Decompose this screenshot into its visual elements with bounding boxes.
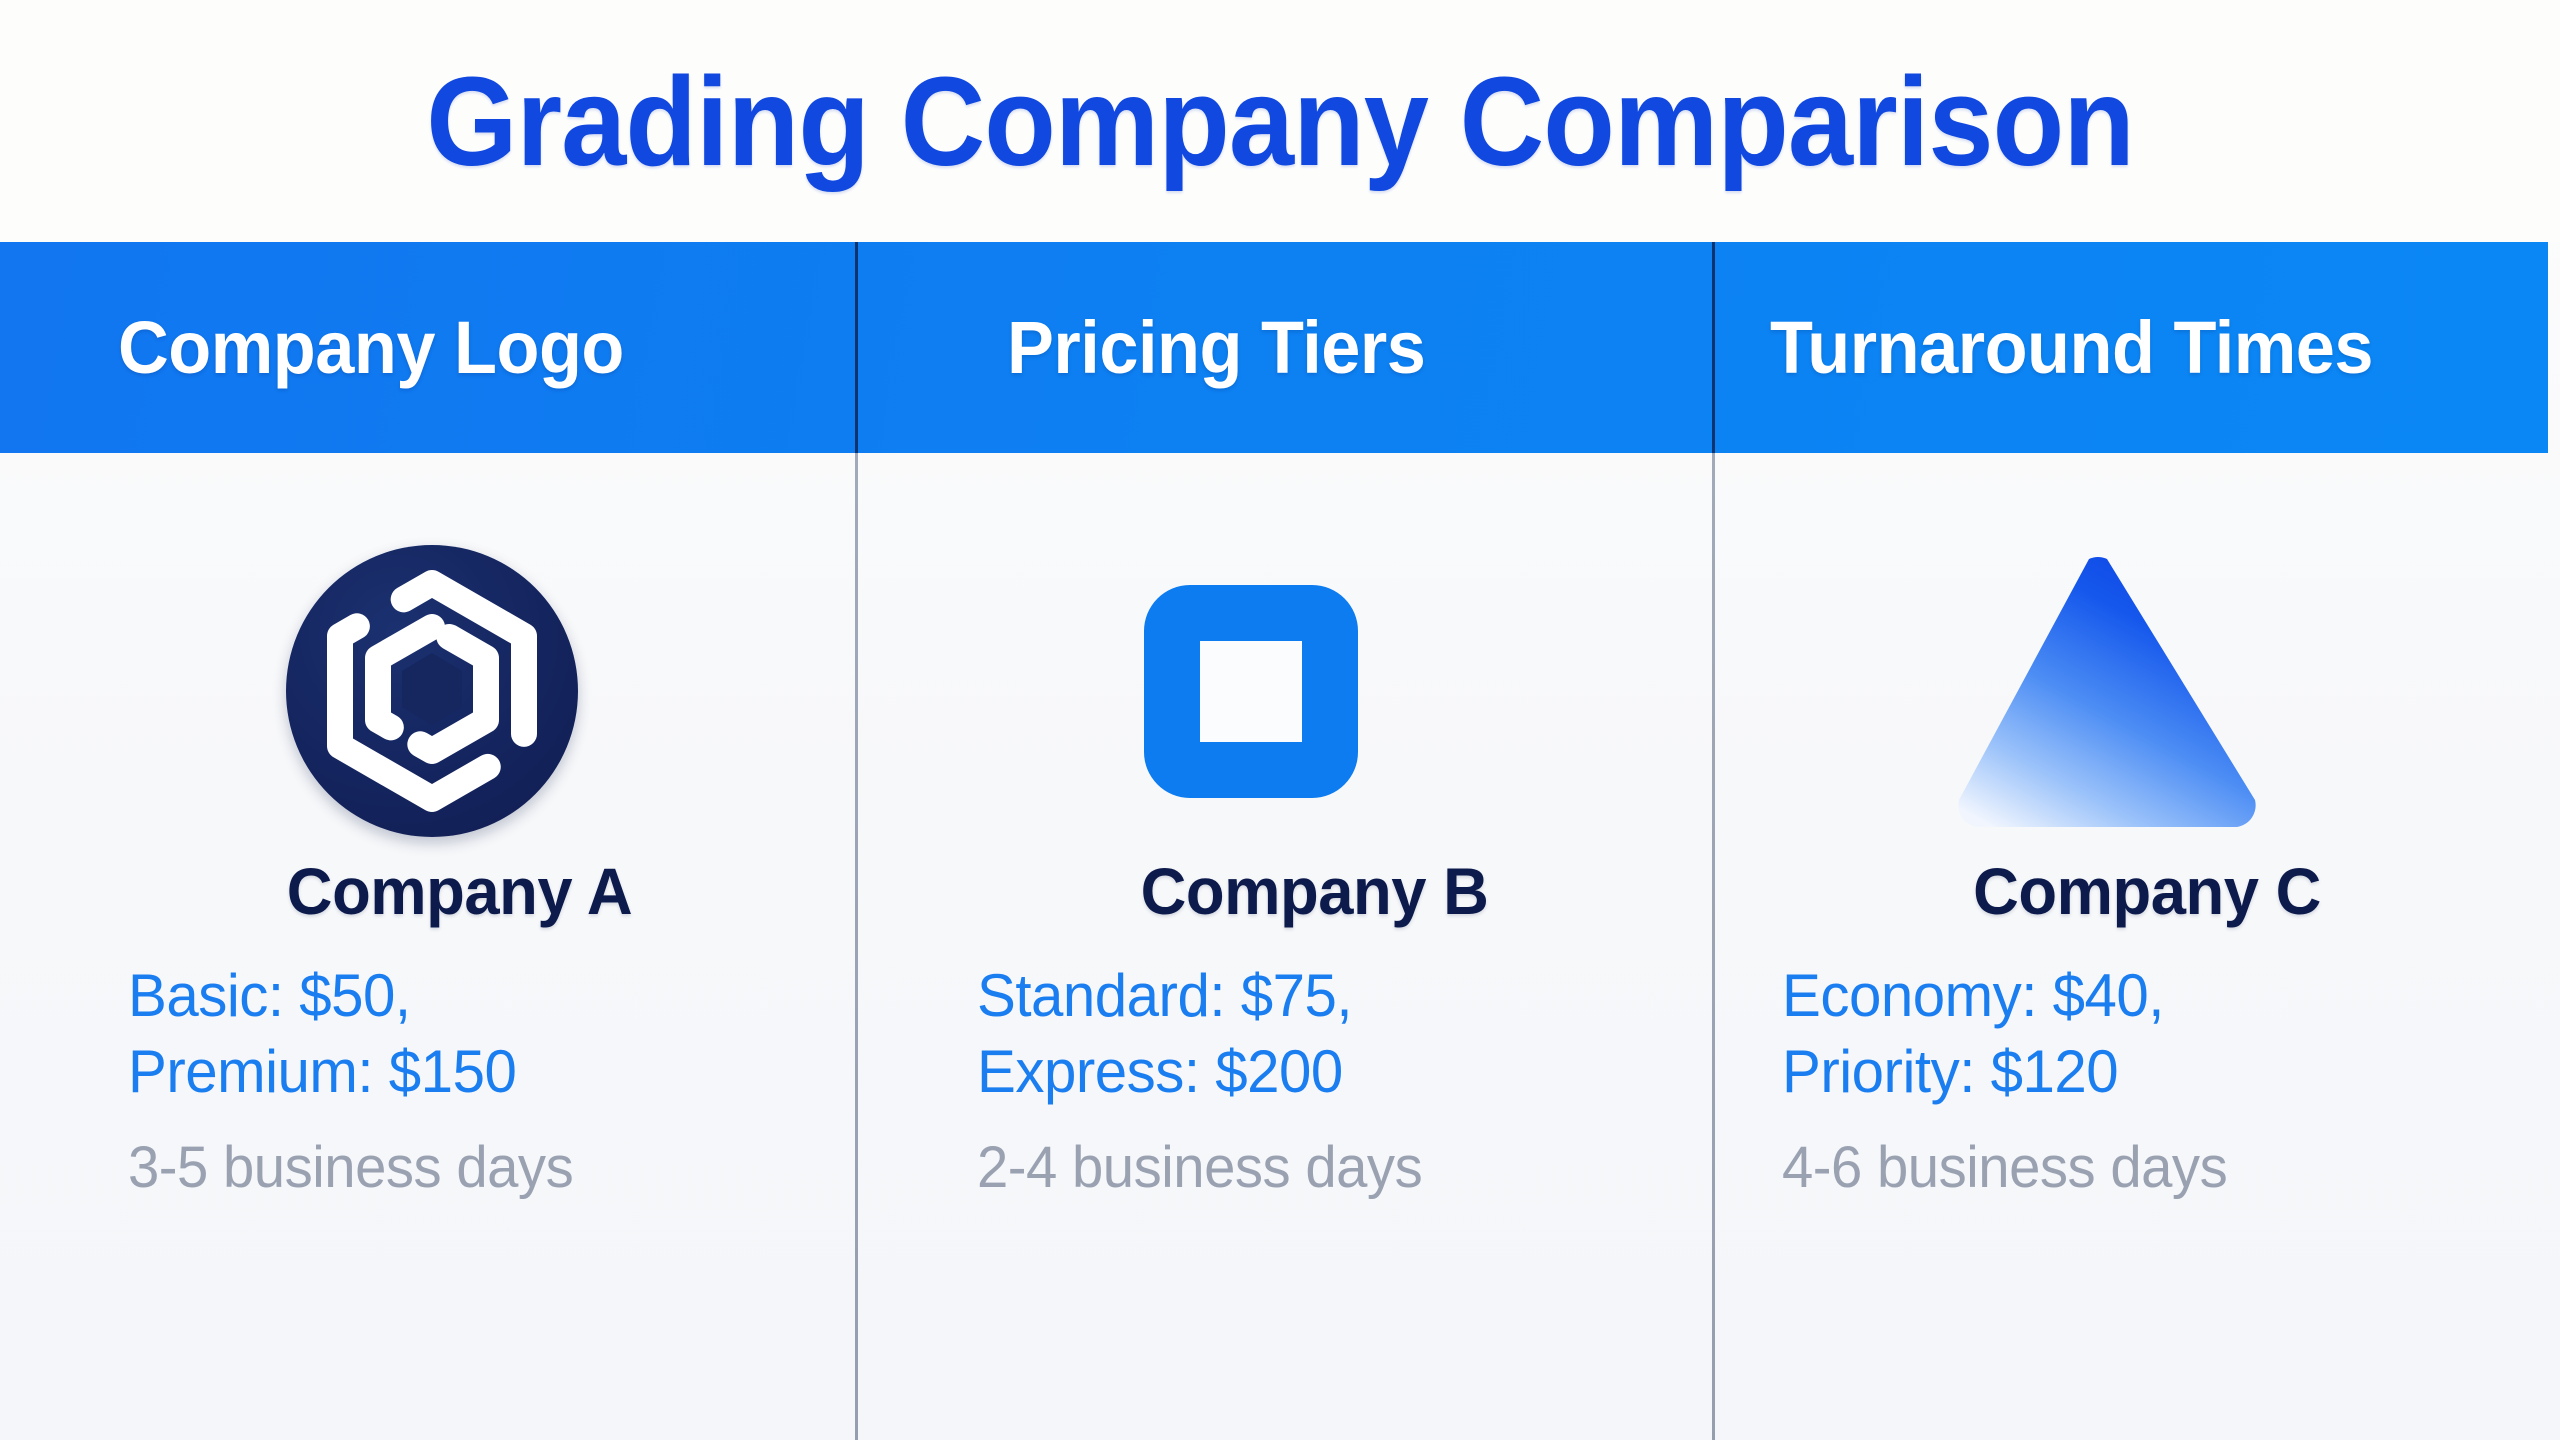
header-cell-pricing-tiers: Pricing Tiers: [855, 242, 1712, 453]
price-line-b-1: Standard: $75,: [977, 965, 1661, 1027]
comparison-columns: Company A Basic: $50, Premium: $150 3-5 …: [0, 453, 2560, 1440]
hexagon-badge-icon: [286, 545, 578, 837]
company-column-a: Company A Basic: $50, Premium: $150 3-5 …: [0, 453, 855, 1440]
header-label-turnaround-times: Turnaround Times: [1770, 305, 2373, 390]
table-header-row: Company Logo Pricing Tiers Turnaround Ti…: [0, 242, 2548, 453]
price-line-c-1: Economy: $40,: [1782, 965, 2508, 1027]
price-line-c-2: Priority: $120: [1782, 1041, 2508, 1103]
price-line-a-1: Basic: $50,: [128, 965, 804, 1027]
header-cell-company-logo: Company Logo: [0, 242, 855, 453]
turnaround-a: 3-5 business days: [128, 1134, 804, 1201]
text-slot-a: Company A Basic: $50, Premium: $150 3-5 …: [0, 853, 855, 1201]
price-line-b-2: Express: $200: [977, 1041, 1661, 1103]
text-slot-b: Company B Standard: $75, Express: $200 2…: [855, 853, 1712, 1201]
header-label-pricing-tiers: Pricing Tiers: [1007, 305, 1425, 390]
header-label-company-logo: Company Logo: [118, 305, 624, 390]
company-name-a: Company A: [109, 853, 811, 929]
rounded-square-outline-icon: [1144, 585, 1358, 798]
price-line-a-2: Premium: $150: [128, 1041, 804, 1103]
logo-slot-c: [1712, 541, 2560, 841]
turnaround-b: 2-4 business days: [977, 1134, 1661, 1201]
company-column-c: Company C Economy: $40, Priority: $120 4…: [1712, 453, 2560, 1440]
rounded-triangle-icon: [1942, 545, 2272, 837]
company-column-b: Company B Standard: $75, Express: $200 2…: [855, 453, 1712, 1440]
grading-company-comparison-infographic: Grading Company Comparison Company Logo …: [0, 0, 2560, 1440]
header-cell-turnaround-times: Turnaround Times: [1712, 242, 2548, 453]
text-slot-c: Company C Economy: $40, Priority: $120 4…: [1712, 853, 2560, 1201]
company-name-c: Company C: [1779, 853, 2514, 929]
page-title: Grading Company Comparison: [426, 49, 2134, 194]
company-name-b: Company B: [962, 853, 1668, 929]
turnaround-c: 4-6 business days: [1782, 1134, 2508, 1201]
title-bar: Grading Company Comparison: [0, 0, 2560, 242]
